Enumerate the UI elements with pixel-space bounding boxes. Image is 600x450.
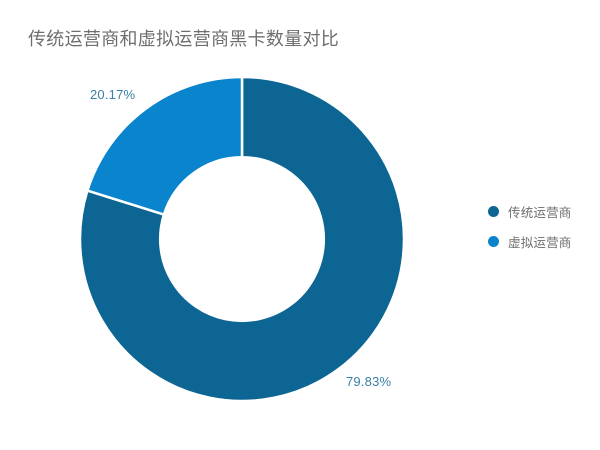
legend-item-traditional-operator[interactable]: 传统运营商 — [488, 196, 596, 226]
chart-legend: 传统运营商 虚拟运营商 — [488, 196, 596, 256]
legend-swatch-circle-icon — [488, 236, 499, 247]
slice-label-traditional-operator: 79.83% — [346, 374, 391, 389]
donut-slice-group — [80, 77, 404, 401]
legend-swatch-circle-icon — [488, 206, 499, 217]
legend-label-virtual-operator: 虚拟运营商 — [508, 232, 572, 251]
legend-item-virtual-operator[interactable]: 虚拟运营商 — [488, 226, 596, 256]
legend-label-traditional-operator: 传统运营商 — [508, 202, 572, 221]
slice-label-virtual-operator: 20.17% — [90, 87, 135, 102]
chart-container: 传统运营商和虚拟运营商黑卡数量对比 20.17% 79.83% 传统运营商 虚拟… — [0, 0, 600, 450]
